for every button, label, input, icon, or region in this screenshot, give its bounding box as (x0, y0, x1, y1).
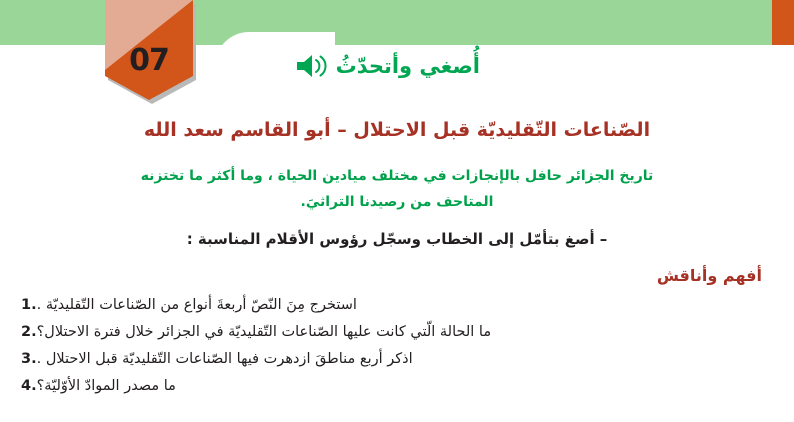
unit-number-badge: 07 (105, 0, 193, 104)
lesson-intro-paragraph: تاريخ الجزائر حافل بالإنجازات في مختلف م… (0, 144, 794, 216)
question-text: ما الحالة الّتي كانت عليها الصّناعات الت… (37, 319, 491, 346)
question-number: 3. (21, 346, 37, 373)
list-item: 2. ما الحالة الّتي كانت عليها الصّناعات … (16, 319, 778, 346)
intro-line-2: المتاحف من رصيدنا التراثيَ. (140, 190, 654, 216)
speaker-icon (295, 52, 329, 80)
lesson-body: الصّناعات التّقليديّة قبل الاحتلال – أبو… (0, 108, 794, 400)
question-number: 2. (21, 319, 37, 346)
question-text: اذكر أربع مناطقَ ازدهرت فيها الصّناعات ا… (37, 346, 413, 373)
section-heading: أُصغي وأتحدّثُ (290, 44, 480, 88)
list-item: 3. اذكر أربع مناطقَ ازدهرت فيها الصّناعا… (16, 346, 778, 373)
lesson-title: الصّناعات التّقليديّة قبل الاحتلال – أبو… (0, 108, 794, 144)
lesson-instruction: – أصغ بتأمّل إلى الخطاب وسجّل رؤوس الأقل… (0, 215, 794, 250)
intro-line-1: تاريخ الجزائر حافل بالإنجازات في مختلف م… (141, 168, 654, 184)
question-text: ما مصدر الموادّ الأوّليّة؟ (37, 373, 176, 400)
question-text: استخرج مِنَ النّصّ أربعةَ أنواع من الصّن… (37, 292, 357, 319)
list-item: 4. ما مصدر الموادّ الأوّليّة؟ (16, 373, 778, 400)
header-right-orange-block (772, 0, 794, 46)
activity-subheading: أفهم وأناقش (0, 250, 782, 285)
question-list: 1. استخرج مِنَ النّصّ أربعةَ أنواع من ال… (0, 285, 794, 399)
list-item: 1. استخرج مِنَ النّصّ أربعةَ أنواع من ال… (16, 292, 778, 319)
badge-number-text: 07 (105, 0, 193, 100)
question-number: 1. (21, 292, 37, 319)
section-heading-label: أُصغي وأتحدّثُ (336, 56, 480, 77)
question-number: 4. (21, 373, 37, 400)
